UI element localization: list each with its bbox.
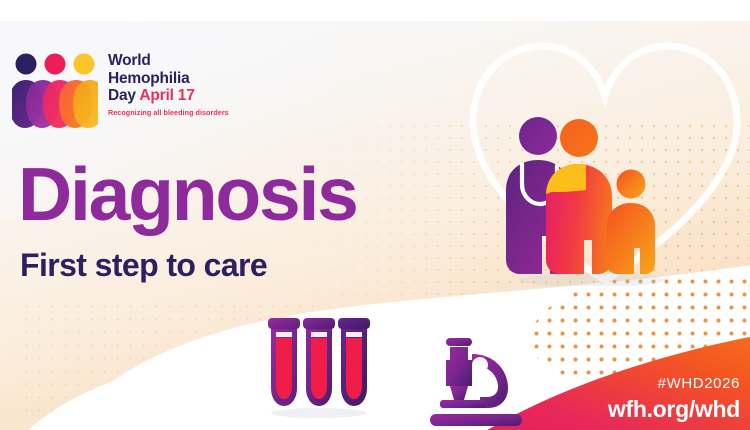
doctor-head <box>519 117 557 155</box>
logo-wordmark: World Hemophilia Day April 17 Recognizin… <box>108 52 268 117</box>
whd-poster: World Hemophilia Day April 17 Recognizin… <box>0 0 750 430</box>
microscope-body <box>430 338 522 426</box>
logo-people-drops-svg <box>12 50 98 132</box>
logo[interactable]: World Hemophilia Day April 17 Recognizin… <box>12 50 262 138</box>
microscope-illustration <box>428 334 524 426</box>
test-tubes-illustration <box>263 312 375 420</box>
child-body <box>607 203 655 274</box>
website-url[interactable]: wfh.org/whd <box>608 396 740 423</box>
test-tube-1 <box>268 318 300 406</box>
logo-date-label: April 17 <box>139 87 194 104</box>
family-figures-illustration <box>500 108 680 286</box>
logo-day-label: Day <box>108 87 136 104</box>
microscope-svg <box>428 334 524 426</box>
logo-line-2: Hemophilia <box>108 70 268 88</box>
adult-head <box>560 119 598 157</box>
page-title: Diagnosis <box>18 157 357 232</box>
logo-mark-icon <box>12 50 98 132</box>
test-tubes-svg <box>263 312 375 420</box>
hashtag-label: #WHD2026 <box>658 375 740 392</box>
child-head <box>617 170 646 199</box>
test-tube-3 <box>338 318 370 406</box>
figures-svg <box>500 108 680 286</box>
logo-tagline: Recognizing all bleeding disorders <box>108 108 268 117</box>
logo-line-1: World <box>108 52 268 70</box>
test-tube-2 <box>303 318 335 406</box>
page-subtitle: First step to care <box>20 248 267 282</box>
logo-line-3: Day April 17 <box>108 87 268 105</box>
